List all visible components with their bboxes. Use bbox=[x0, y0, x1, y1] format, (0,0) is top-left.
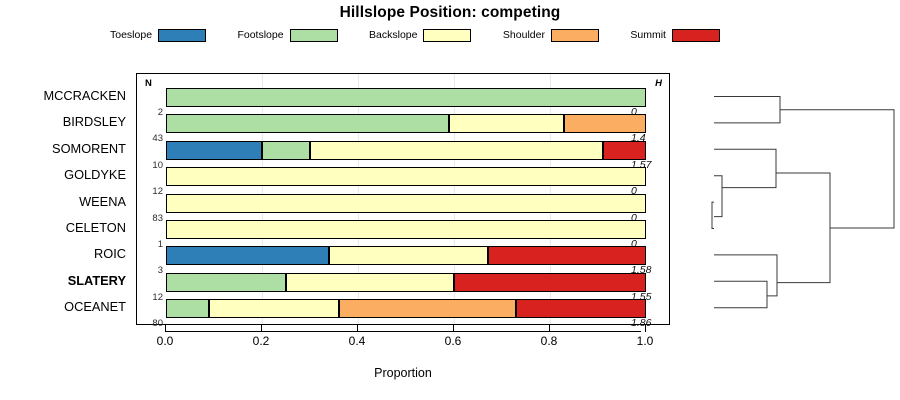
legend-swatch-summit bbox=[672, 29, 720, 42]
legend-item-backslope[interactable]: Backslope bbox=[369, 29, 471, 42]
dendro-merge-somorent-cluster bbox=[714, 149, 776, 187]
stacked-bar-weena bbox=[137, 194, 671, 213]
bar-segment-celeton-backslope[interactable] bbox=[166, 220, 646, 239]
stacked-bar-somorent bbox=[137, 141, 671, 160]
category-label-celeton: CELETON bbox=[0, 220, 126, 235]
bar-segment-mccracken-footslope[interactable] bbox=[166, 88, 646, 107]
x-tick-label-0.2: 0.2 bbox=[241, 334, 281, 348]
category-label-oceanet: OCEANET bbox=[0, 299, 126, 314]
plot-panel: N H 20431.4101.571208301031.58121.55801.… bbox=[136, 73, 670, 325]
bar-segment-somorent-backslope[interactable] bbox=[310, 141, 603, 160]
bar-segment-somorent-footslope[interactable] bbox=[262, 141, 310, 160]
bar-segment-slatery-summit[interactable] bbox=[454, 273, 646, 292]
legend-item-toeslope[interactable]: Toeslope bbox=[110, 29, 206, 42]
bar-segment-oceanet-backslope[interactable] bbox=[209, 299, 339, 318]
legend-item-shoulder[interactable]: Shoulder bbox=[503, 29, 599, 42]
x-tick-label-0.8: 0.8 bbox=[529, 334, 569, 348]
dendro-merge-goldyke-cluster bbox=[714, 176, 722, 217]
category-label-roic: ROIC bbox=[0, 246, 126, 261]
legend-swatch-backslope bbox=[423, 29, 471, 42]
x-tick-0.2 bbox=[261, 325, 262, 332]
dendrogram bbox=[672, 70, 900, 328]
x-tick-label-1.0: 1.0 bbox=[625, 334, 665, 348]
x-tick-0.0 bbox=[165, 325, 166, 332]
dendro-merge-mid-clusters bbox=[776, 173, 830, 283]
chart-root: Hillslope Position: competing Toeslope F… bbox=[0, 0, 900, 400]
category-label-weena: WEENA bbox=[0, 194, 126, 209]
bar-segment-roic-backslope[interactable] bbox=[329, 246, 487, 265]
legend-label-backslope: Backslope bbox=[369, 30, 417, 41]
legend-item-footslope[interactable]: Footslope bbox=[237, 29, 337, 42]
legend-label-shoulder: Shoulder bbox=[503, 30, 545, 41]
bar-segment-weena-backslope[interactable] bbox=[166, 194, 646, 213]
bar-segment-oceanet-footslope[interactable] bbox=[166, 299, 209, 318]
x-axis-title: Proportion bbox=[136, 366, 670, 380]
category-label-goldyke: GOLDYKE bbox=[0, 167, 126, 182]
legend-swatch-shoulder bbox=[551, 29, 599, 42]
category-label-slatery: SLATERY bbox=[0, 273, 126, 288]
bar-segment-birdsley-footslope[interactable] bbox=[166, 114, 449, 133]
stacked-bar-goldyke bbox=[137, 167, 671, 186]
stacked-bar-birdsley bbox=[137, 114, 671, 133]
legend-label-toeslope: Toeslope bbox=[110, 30, 152, 41]
legend-swatch-toeslope bbox=[158, 29, 206, 42]
x-tick-0.6 bbox=[453, 325, 454, 332]
bar-segment-slatery-footslope[interactable] bbox=[166, 273, 286, 292]
category-axis-labels: MCCRACKENBIRDSLEYSOMORENTGOLDYKEWEENACEL… bbox=[0, 73, 134, 325]
x-tick-label-0.4: 0.4 bbox=[337, 334, 377, 348]
bar-segment-roic-summit[interactable] bbox=[488, 246, 646, 265]
legend-item-summit[interactable]: Summit bbox=[630, 29, 720, 42]
bar-segment-oceanet-summit[interactable] bbox=[516, 299, 646, 318]
stacked-bar-slatery bbox=[137, 273, 671, 292]
dendro-merge-mccracken-birdsley bbox=[714, 97, 780, 123]
dendro-merge-slatery-oceanet bbox=[714, 281, 767, 307]
stacked-bar-mccracken bbox=[137, 88, 671, 107]
bar-segment-birdsley-shoulder[interactable] bbox=[564, 114, 646, 133]
bar-segment-oceanet-shoulder[interactable] bbox=[339, 299, 517, 318]
category-label-somorent: SOMORENT bbox=[0, 141, 126, 156]
dendro-merge-weena-celeton bbox=[712, 202, 714, 228]
bar-segment-roic-toeslope[interactable] bbox=[166, 246, 329, 265]
dendro-merge-roic-cluster bbox=[714, 255, 777, 296]
x-tick-0.8 bbox=[549, 325, 550, 332]
legend-label-summit: Summit bbox=[630, 30, 666, 41]
chart-legend: Toeslope Footslope Backslope Shoulder Su… bbox=[110, 27, 720, 43]
page-title: Hillslope Position: competing bbox=[0, 4, 900, 22]
category-label-mccracken: MCCRACKEN bbox=[0, 88, 126, 103]
stacked-bar-roic bbox=[137, 246, 671, 265]
x-tick-0.4 bbox=[357, 325, 358, 332]
x-tick-label-0.0: 0.0 bbox=[145, 334, 185, 348]
bar-segment-somorent-toeslope[interactable] bbox=[166, 141, 262, 160]
x-axis: 0.00.20.40.60.81.0 bbox=[136, 325, 670, 355]
x-tick-1.0 bbox=[645, 325, 646, 332]
dendrogram-svg bbox=[672, 70, 900, 328]
bar-segment-slatery-backslope[interactable] bbox=[286, 273, 454, 292]
bar-segment-goldyke-backslope[interactable] bbox=[166, 167, 646, 186]
stacked-bar-celeton bbox=[137, 220, 671, 239]
x-axis-line bbox=[165, 331, 641, 332]
legend-swatch-footslope bbox=[290, 29, 338, 42]
bar-segment-birdsley-backslope[interactable] bbox=[449, 114, 564, 133]
legend-label-footslope: Footslope bbox=[237, 30, 283, 41]
bar-segment-somorent-summit[interactable] bbox=[603, 141, 646, 160]
dendro-merge-root bbox=[780, 110, 894, 228]
stacked-bar-oceanet bbox=[137, 299, 671, 318]
category-label-birdsley: BIRDSLEY bbox=[0, 114, 126, 129]
x-tick-label-0.6: 0.6 bbox=[433, 334, 473, 348]
